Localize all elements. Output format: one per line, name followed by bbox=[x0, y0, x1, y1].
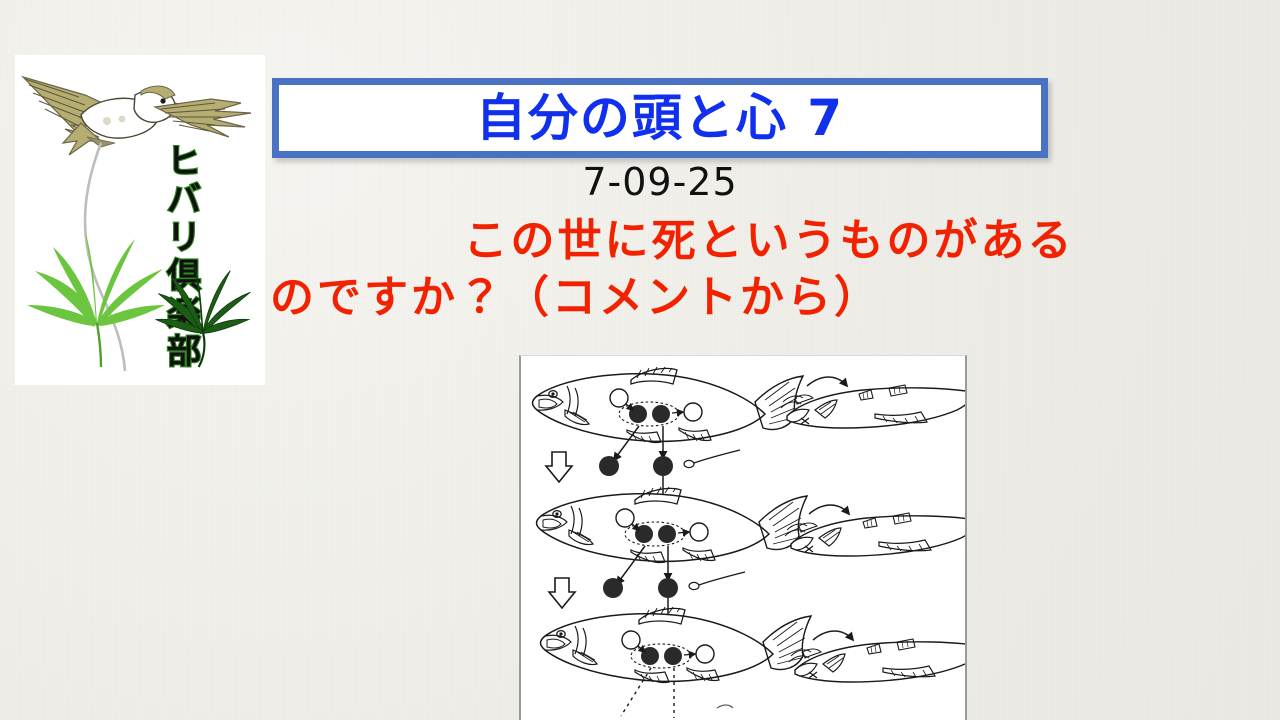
filled-gene-circle bbox=[629, 405, 647, 423]
logo-club-name: ヒ バ リ 倶 楽 部 bbox=[166, 142, 201, 372]
filled-gene-circle bbox=[658, 525, 676, 543]
filled-gene-circle bbox=[664, 647, 682, 665]
salmon-dead-icon bbox=[781, 368, 965, 428]
diagram-artwork bbox=[521, 356, 965, 720]
diagram-row-3 bbox=[541, 607, 966, 718]
open-gene-circle bbox=[696, 645, 714, 663]
filled-gene-circle bbox=[652, 405, 670, 423]
slide-root: ヒ バ リ 倶 楽 部 bbox=[0, 0, 1280, 720]
salmon-dead-icon bbox=[785, 496, 965, 556]
open-gene-circle bbox=[616, 509, 634, 527]
salmon-alive-icon bbox=[541, 607, 812, 683]
svg-text:リ: リ bbox=[167, 218, 201, 258]
curved-arrow-right-icon bbox=[807, 377, 847, 386]
svg-text:バ: バ bbox=[167, 180, 201, 220]
milt-icon bbox=[684, 450, 740, 468]
page-title: 自分の頭と心 7 bbox=[476, 93, 844, 143]
question-text: この世に死というものがある のですか？（コメントから） bbox=[270, 212, 1250, 326]
open-gene-circle bbox=[610, 389, 628, 407]
svg-text:部: 部 bbox=[167, 332, 201, 372]
filled-gene-circle bbox=[635, 525, 653, 543]
curved-arrow-right-icon bbox=[809, 505, 849, 514]
offspring-filled-circle bbox=[603, 578, 623, 598]
hibari-club-logo: ヒ バ リ 倶 楽 部 bbox=[15, 55, 265, 385]
hollow-down-arrow-icon bbox=[546, 452, 572, 482]
filled-gene-circle bbox=[641, 647, 659, 665]
partial-artifact bbox=[717, 705, 733, 708]
open-gene-circle bbox=[684, 403, 702, 421]
question-line-2: のですか？（コメントから） bbox=[270, 269, 1250, 326]
lark-bird-icon bbox=[23, 77, 251, 155]
slide-date: 7-09-25 bbox=[272, 160, 1048, 204]
salmon-alive-icon bbox=[537, 487, 808, 563]
hollow-down-arrow-icon bbox=[549, 578, 575, 608]
hemp-leaf-icon bbox=[27, 231, 165, 367]
plant-stem bbox=[85, 143, 125, 371]
curved-arrow-right-icon bbox=[813, 631, 853, 640]
svg-text:ヒ: ヒ bbox=[167, 142, 201, 182]
milt-icon bbox=[689, 572, 745, 590]
question-line-1: この世に死というものがある bbox=[270, 212, 1250, 269]
open-gene-circle bbox=[622, 631, 640, 649]
salmon-generations-diagram bbox=[519, 355, 967, 720]
open-gene-circle bbox=[690, 523, 708, 541]
offspring-filled-circle bbox=[599, 456, 619, 476]
salmon-dead-icon bbox=[789, 622, 965, 682]
offspring-filled-circle bbox=[658, 578, 678, 598]
logo-artwork: ヒ バ リ 倶 楽 部 bbox=[15, 55, 265, 385]
slide-title-box: 自分の頭と心 7 bbox=[272, 78, 1048, 158]
offspring-filled-circle bbox=[653, 456, 673, 476]
